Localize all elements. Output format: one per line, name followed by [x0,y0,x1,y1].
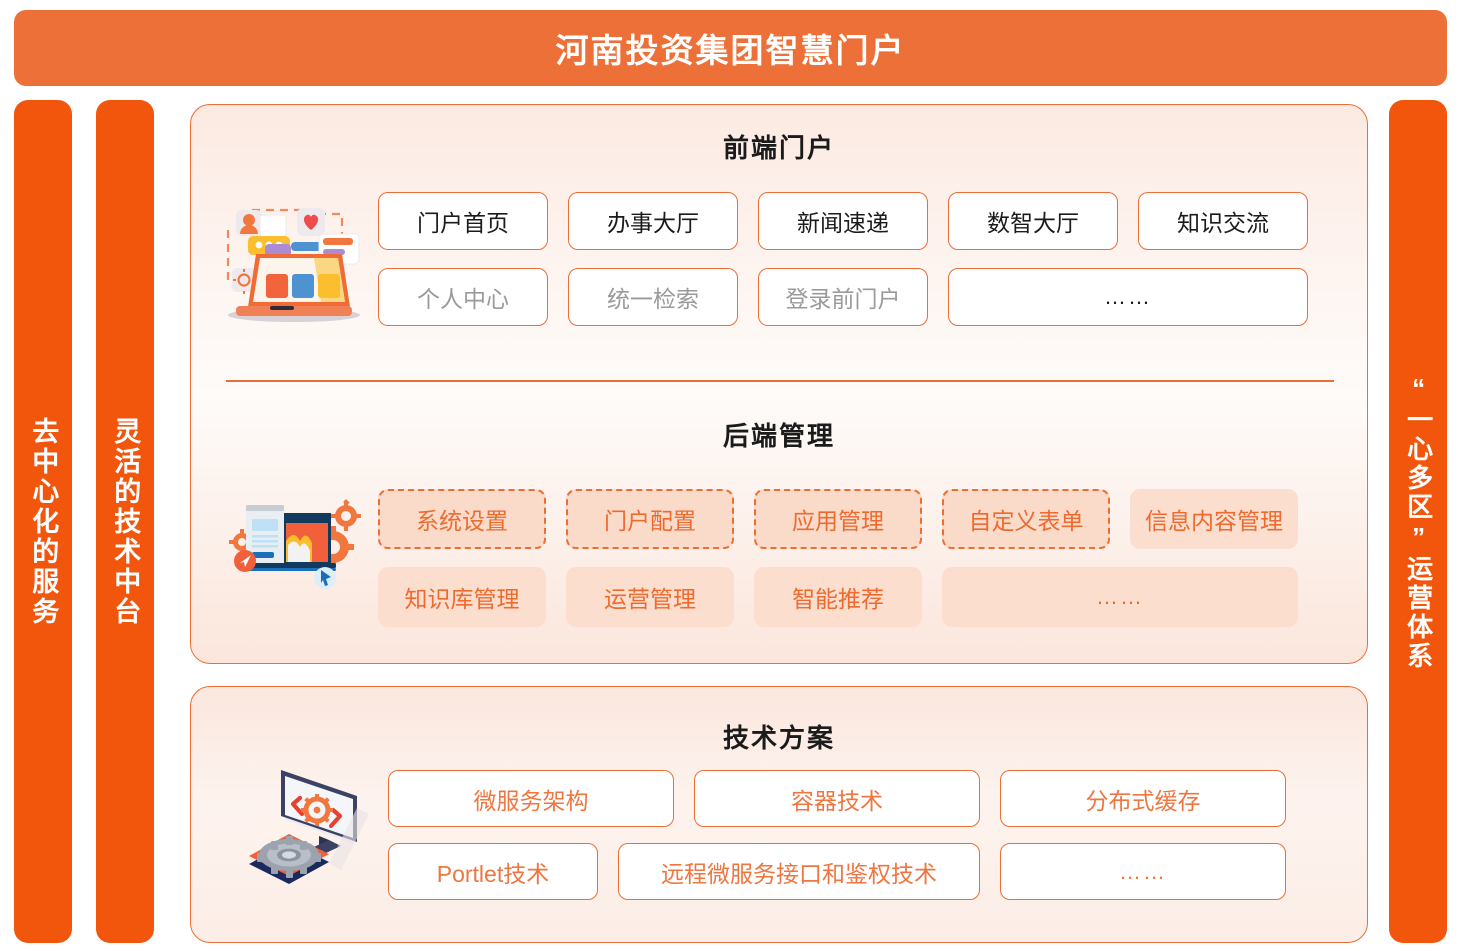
back-end-row-2: 知识库管理 运营管理 智能推荐 …… [378,567,1298,627]
section-title-front-end: 前端门户 [190,128,1368,165]
chip-pre-login-portal[interactable]: 登录前门户 [758,268,928,326]
chip-portal-config[interactable]: 门户配置 [566,489,734,549]
chip-container-technology[interactable]: 容器技术 [694,770,980,827]
chip-remote-microservice-auth[interactable]: 远程微服务接口和鉴权技术 [618,843,980,900]
sidebar-item-one-core-multi-zone-ops[interactable]: “一心多区”运营体系 [1389,100,1447,943]
tech-chip-grid: 微服务架构 容器技术 分布式缓存 Portlet技术 远程微服务接口和鉴权技术 … [388,770,1286,900]
chip-smart-recommendation[interactable]: 智能推荐 [754,567,922,627]
diagram-canvas: 河南投资集团智慧门户 去中心化的服务 灵活的技术中台 “一心多区”运营体系 前端… [0,0,1461,951]
page-title: 河南投资集团智慧门户 [556,24,906,72]
sidebar-label-flexible-tech-midend: 灵活的技术中台 [108,417,143,627]
sidebar-label-decentralized-service: 去中心化的服务 [26,417,61,627]
chip-operations-management[interactable]: 运营管理 [566,567,734,627]
isometric-monitor-code-gear-illustration [245,752,375,887]
chip-knowledge-exchange[interactable]: 知识交流 [1138,192,1308,250]
chip-back-end-more[interactable]: …… [942,567,1298,627]
document-laptop-gears-illustration [228,483,363,595]
chip-personal-center[interactable]: 个人中心 [378,268,548,326]
chip-unified-search[interactable]: 统一检索 [568,268,738,326]
chip-portlet-technology[interactable]: Portlet技术 [388,843,598,900]
front-end-row-1: 门户首页 办事大厅 新闻速递 数智大厅 知识交流 [378,192,1308,250]
chip-knowledge-base-management[interactable]: 知识库管理 [378,567,546,627]
section-title-tech: 技术方案 [190,718,1368,755]
page-header: 河南投资集团智慧门户 [14,10,1447,86]
chip-front-end-more[interactable]: …… [948,268,1308,326]
tech-row-2: Portlet技术 远程微服务接口和鉴权技术 …… [388,843,1286,900]
back-end-row-1: 系统设置 门户配置 应用管理 自定义表单 信息内容管理 [378,489,1298,549]
sidebar-item-decentralized-service[interactable]: 去中心化的服务 [14,100,72,943]
chip-distributed-cache[interactable]: 分布式缓存 [1000,770,1286,827]
chip-tech-more[interactable]: …… [1000,843,1286,900]
front-end-row-2: 个人中心 统一检索 登录前门户 …… [378,268,1308,326]
chip-data-intelligence-hall[interactable]: 数智大厅 [948,192,1118,250]
section-title-back-end: 后端管理 [190,416,1368,453]
chip-custom-form[interactable]: 自定义表单 [942,489,1110,549]
chip-system-settings[interactable]: 系统设置 [378,489,546,549]
sidebar-item-flexible-tech-midend[interactable]: 灵活的技术中台 [96,100,154,943]
chip-service-hall[interactable]: 办事大厅 [568,192,738,250]
back-end-chip-grid: 系统设置 门户配置 应用管理 自定义表单 信息内容管理 知识库管理 运营管理 智… [378,489,1298,627]
chip-microservice-architecture[interactable]: 微服务架构 [388,770,674,827]
section-divider [226,380,1334,382]
tech-row-1: 微服务架构 容器技术 分布式缓存 [388,770,1286,827]
chip-news-express[interactable]: 新闻速递 [758,192,928,250]
chip-application-management[interactable]: 应用管理 [754,489,922,549]
chip-info-content-management[interactable]: 信息内容管理 [1130,489,1298,549]
laptop-website-illustration [218,182,368,327]
front-end-chip-grid: 门户首页 办事大厅 新闻速递 数智大厅 知识交流 个人中心 统一检索 登录前门户… [378,192,1308,326]
chip-portal-home[interactable]: 门户首页 [378,192,548,250]
sidebar-label-one-core-multi-zone-ops: “一心多区”运营体系 [1401,373,1434,671]
